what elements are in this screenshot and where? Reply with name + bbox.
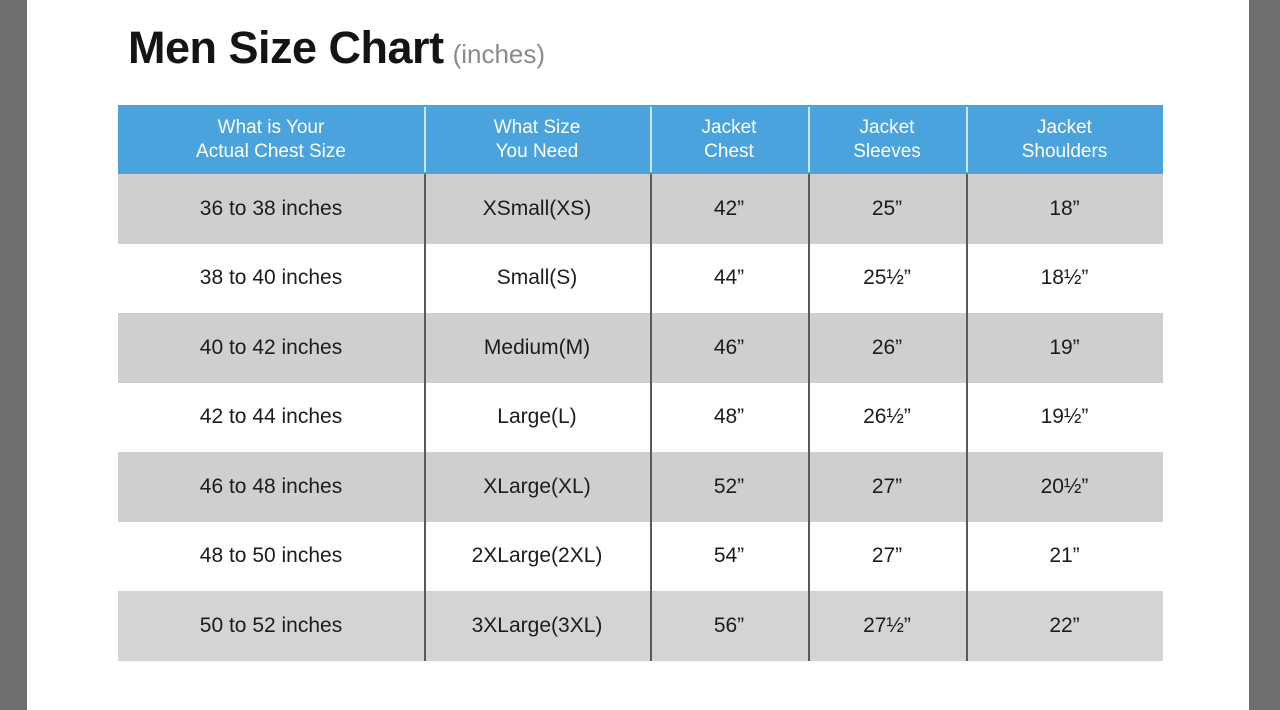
cell-jacket-chest: 54” <box>650 522 808 592</box>
column-header-jacket-shoulders: Jacket Shoulders <box>966 105 1163 174</box>
column-header-line1: What is Your <box>218 116 325 140</box>
cell-jacket-sleeves: 27” <box>808 522 966 592</box>
page-title-text: Men Size Chart <box>128 22 444 74</box>
table-row: 36 to 38 inches XSmall(XS) 42” 25” 18” <box>118 174 1163 244</box>
table-row: 38 to 40 inches Small(S) 44” 25½” 18½” <box>118 244 1163 314</box>
cell-chest-size: 36 to 38 inches <box>118 174 424 244</box>
table-row: 40 to 42 inches Medium(M) 46” 26” 19” <box>118 313 1163 383</box>
cell-jacket-chest: 48” <box>650 383 808 453</box>
column-header-line2: You Need <box>496 140 579 164</box>
column-header-jacket-sleeves: Jacket Sleeves <box>808 105 966 174</box>
cell-jacket-chest: 44” <box>650 244 808 314</box>
table-row: 46 to 48 inches XLarge(XL) 52” 27” 20½” <box>118 452 1163 522</box>
column-header-size-you-need: What Size You Need <box>424 105 650 174</box>
table-row: 42 to 44 inches Large(L) 48” 26½” 19½” <box>118 383 1163 453</box>
cell-jacket-shoulders: 20½” <box>966 452 1163 522</box>
cell-jacket-sleeves: 27” <box>808 452 966 522</box>
cell-chest-size: 48 to 50 inches <box>118 522 424 592</box>
cell-jacket-shoulders: 22” <box>966 591 1163 661</box>
page-title-unit: (inches) <box>453 39 545 70</box>
column-header-line1: Jacket <box>702 116 757 140</box>
column-header-line2: Shoulders <box>1022 140 1108 164</box>
cell-jacket-sleeves: 25” <box>808 174 966 244</box>
table-row: 48 to 50 inches 2XLarge(2XL) 54” 27” 21” <box>118 522 1163 592</box>
column-header-line2: Actual Chest Size <box>196 140 346 164</box>
table-header-row: What is Your Actual Chest Size What Size… <box>118 105 1163 174</box>
cell-jacket-sleeves: 27½” <box>808 591 966 661</box>
cell-jacket-sleeves: 26½” <box>808 383 966 453</box>
cell-chest-size: 38 to 40 inches <box>118 244 424 314</box>
cell-size-needed: Small(S) <box>424 244 650 314</box>
cell-jacket-chest: 56” <box>650 591 808 661</box>
cell-jacket-shoulders: 18½” <box>966 244 1163 314</box>
column-header-jacket-chest: Jacket Chest <box>650 105 808 174</box>
column-header-line1: Jacket <box>860 116 915 140</box>
column-header-line1: Jacket <box>1037 116 1092 140</box>
cell-jacket-chest: 46” <box>650 313 808 383</box>
cell-jacket-shoulders: 19½” <box>966 383 1163 453</box>
page-title: Men Size Chart (inches) <box>128 22 545 74</box>
cell-jacket-sleeves: 26” <box>808 313 966 383</box>
cell-jacket-chest: 52” <box>650 452 808 522</box>
column-header-line1: What Size <box>494 116 581 140</box>
column-header-actual-chest-size: What is Your Actual Chest Size <box>118 105 424 174</box>
cell-size-needed: XLarge(XL) <box>424 452 650 522</box>
left-letterbox-band <box>0 0 27 710</box>
column-header-line2: Sleeves <box>853 140 921 164</box>
right-letterbox-band <box>1249 0 1280 710</box>
table-row: 50 to 52 inches 3XLarge(3XL) 56” 27½” 22… <box>118 591 1163 661</box>
cell-jacket-shoulders: 18” <box>966 174 1163 244</box>
cell-jacket-shoulders: 21” <box>966 522 1163 592</box>
cell-jacket-shoulders: 19” <box>966 313 1163 383</box>
cell-size-needed: 3XLarge(3XL) <box>424 591 650 661</box>
cell-chest-size: 40 to 42 inches <box>118 313 424 383</box>
cell-chest-size: 50 to 52 inches <box>118 591 424 661</box>
column-header-line2: Chest <box>704 140 754 164</box>
cell-size-needed: 2XLarge(2XL) <box>424 522 650 592</box>
cell-size-needed: Medium(M) <box>424 313 650 383</box>
document-page: Men Size Chart (inches) What is Your Act… <box>27 0 1249 710</box>
cell-chest-size: 42 to 44 inches <box>118 383 424 453</box>
cell-size-needed: Large(L) <box>424 383 650 453</box>
cell-chest-size: 46 to 48 inches <box>118 452 424 522</box>
cell-jacket-sleeves: 25½” <box>808 244 966 314</box>
cell-size-needed: XSmall(XS) <box>424 174 650 244</box>
cell-jacket-chest: 42” <box>650 174 808 244</box>
size-chart-table: What is Your Actual Chest Size What Size… <box>118 105 1163 661</box>
